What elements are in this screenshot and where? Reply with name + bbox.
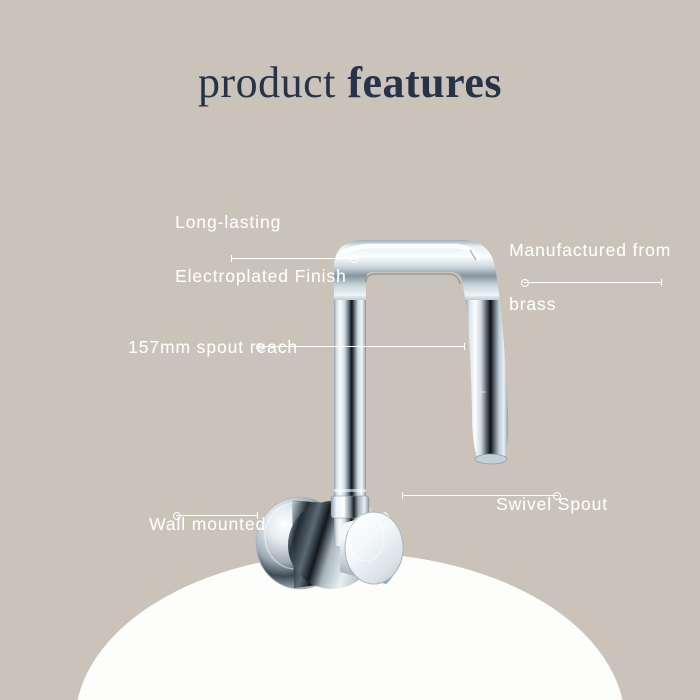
page-title: product features — [0, 57, 700, 108]
callout-swivel-spout-label: Swivel Spout — [473, 464, 608, 545]
connector-tick-icon — [257, 512, 258, 519]
connector-tick-icon — [402, 492, 403, 499]
product-features-image: product features Long-lasting Electropla… — [0, 0, 700, 700]
callout-electroplated-finish-line2: Electroplated Finish — [175, 266, 347, 286]
callout-electroplated-finish-line1: Long-lasting — [175, 212, 281, 232]
connector-dot-icon — [350, 255, 358, 263]
callout-brass-material-line1: Manufactured from — [509, 240, 671, 260]
connector-tick-icon — [661, 279, 662, 286]
connector-tick-icon — [464, 343, 465, 350]
connector-dot-icon — [173, 512, 181, 520]
connector-dot-icon — [256, 343, 264, 351]
page-title-light: product — [198, 58, 347, 107]
callout-brass-material-label: Manufactured from brass — [486, 210, 671, 345]
page-title-bold: features — [347, 58, 502, 107]
connector-dot-icon — [553, 492, 561, 500]
connector-dot-icon — [521, 279, 529, 287]
callout-wall-mounted-connector — [176, 515, 258, 516]
connector-tick-icon — [231, 255, 232, 262]
callout-brass-material-line2: brass — [509, 294, 556, 314]
callout-brass-material-connector — [524, 282, 662, 283]
callout-spout-reach-label: 157mm spout reach — [105, 307, 298, 388]
callout-wall-mounted-label: Wall mounted — [126, 484, 266, 565]
callout-electroplated-finish-label: Long-lasting Electroplated Finish — [152, 182, 347, 317]
callout-electroplated-finish-connector — [231, 258, 355, 259]
callout-swivel-spout-connector — [402, 495, 558, 496]
callout-spout-reach-line1: 157mm spout reach — [128, 337, 298, 357]
callout-swivel-spout-line1: Swivel Spout — [496, 494, 608, 514]
callout-wall-mounted-line1: Wall mounted — [149, 514, 266, 534]
callout-spout-reach-connector — [259, 346, 465, 347]
